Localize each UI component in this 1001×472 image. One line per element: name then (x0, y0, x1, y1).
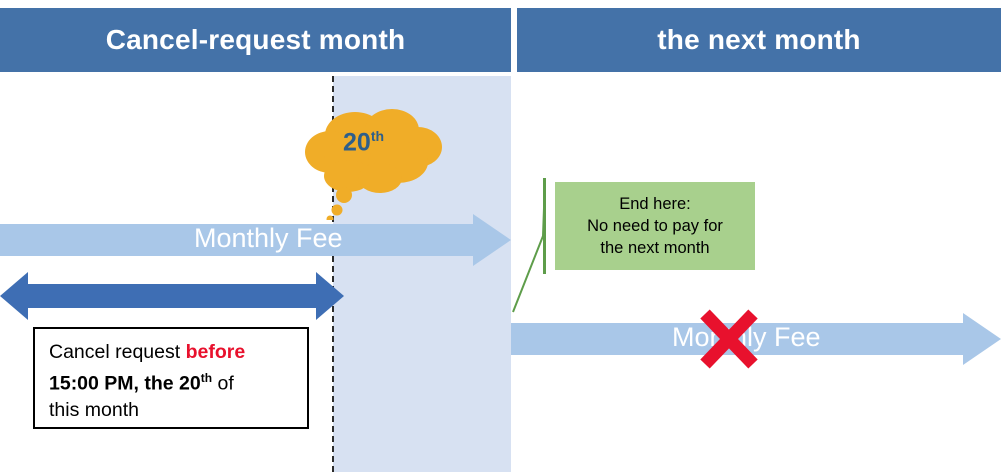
note-line-3: the next month (600, 237, 709, 259)
cancel-box-before-emphasis: before (186, 341, 246, 363)
note-line-1: End here: (619, 193, 691, 215)
end-here-note-box: End here: No need to pay for the next mo… (555, 182, 755, 270)
note-line-2: No need to pay for (587, 215, 723, 237)
diagram-canvas: Cancel-request month the next month Mont… (0, 0, 1001, 472)
cancel-box-day-suffix: th (201, 371, 212, 385)
right-arrow-head (963, 313, 1001, 365)
cancel-box-time-text: 15:00 PM, the 20 (49, 373, 201, 395)
red-x-icon (698, 308, 760, 370)
header-cancel-request-month: Cancel-request month (0, 8, 511, 72)
thought-cloud-day-label: 20th (343, 128, 384, 157)
cancel-box-line-2: 15:00 PM, the 20th of (49, 365, 295, 397)
double-arrow-body (26, 284, 318, 308)
left-monthly-fee-label: Monthly Fee (194, 223, 343, 254)
cancel-box-line2-tail: of (212, 373, 234, 395)
cancel-box-line-1: Cancel request before (49, 339, 295, 365)
cancel-window-double-arrow (0, 272, 344, 320)
cancel-request-deadline-box: Cancel request before 15:00 PM, the 20th… (33, 327, 309, 429)
header-right-label: the next month (657, 24, 860, 56)
double-arrow-right-head (316, 272, 344, 320)
header-left-label: Cancel-request month (106, 24, 406, 56)
cancel-box-line1-pre: Cancel request (49, 341, 186, 363)
cloud-day-number: 20 (343, 128, 371, 156)
cancel-box-line-3: this month (49, 397, 295, 423)
cloud-day-suffix: th (371, 128, 384, 144)
thought-cloud-icon (300, 100, 450, 220)
header-next-month: the next month (517, 8, 1001, 72)
left-monthly-fee-arrow: Monthly Fee (0, 214, 511, 266)
double-arrow-left-head (0, 272, 28, 320)
